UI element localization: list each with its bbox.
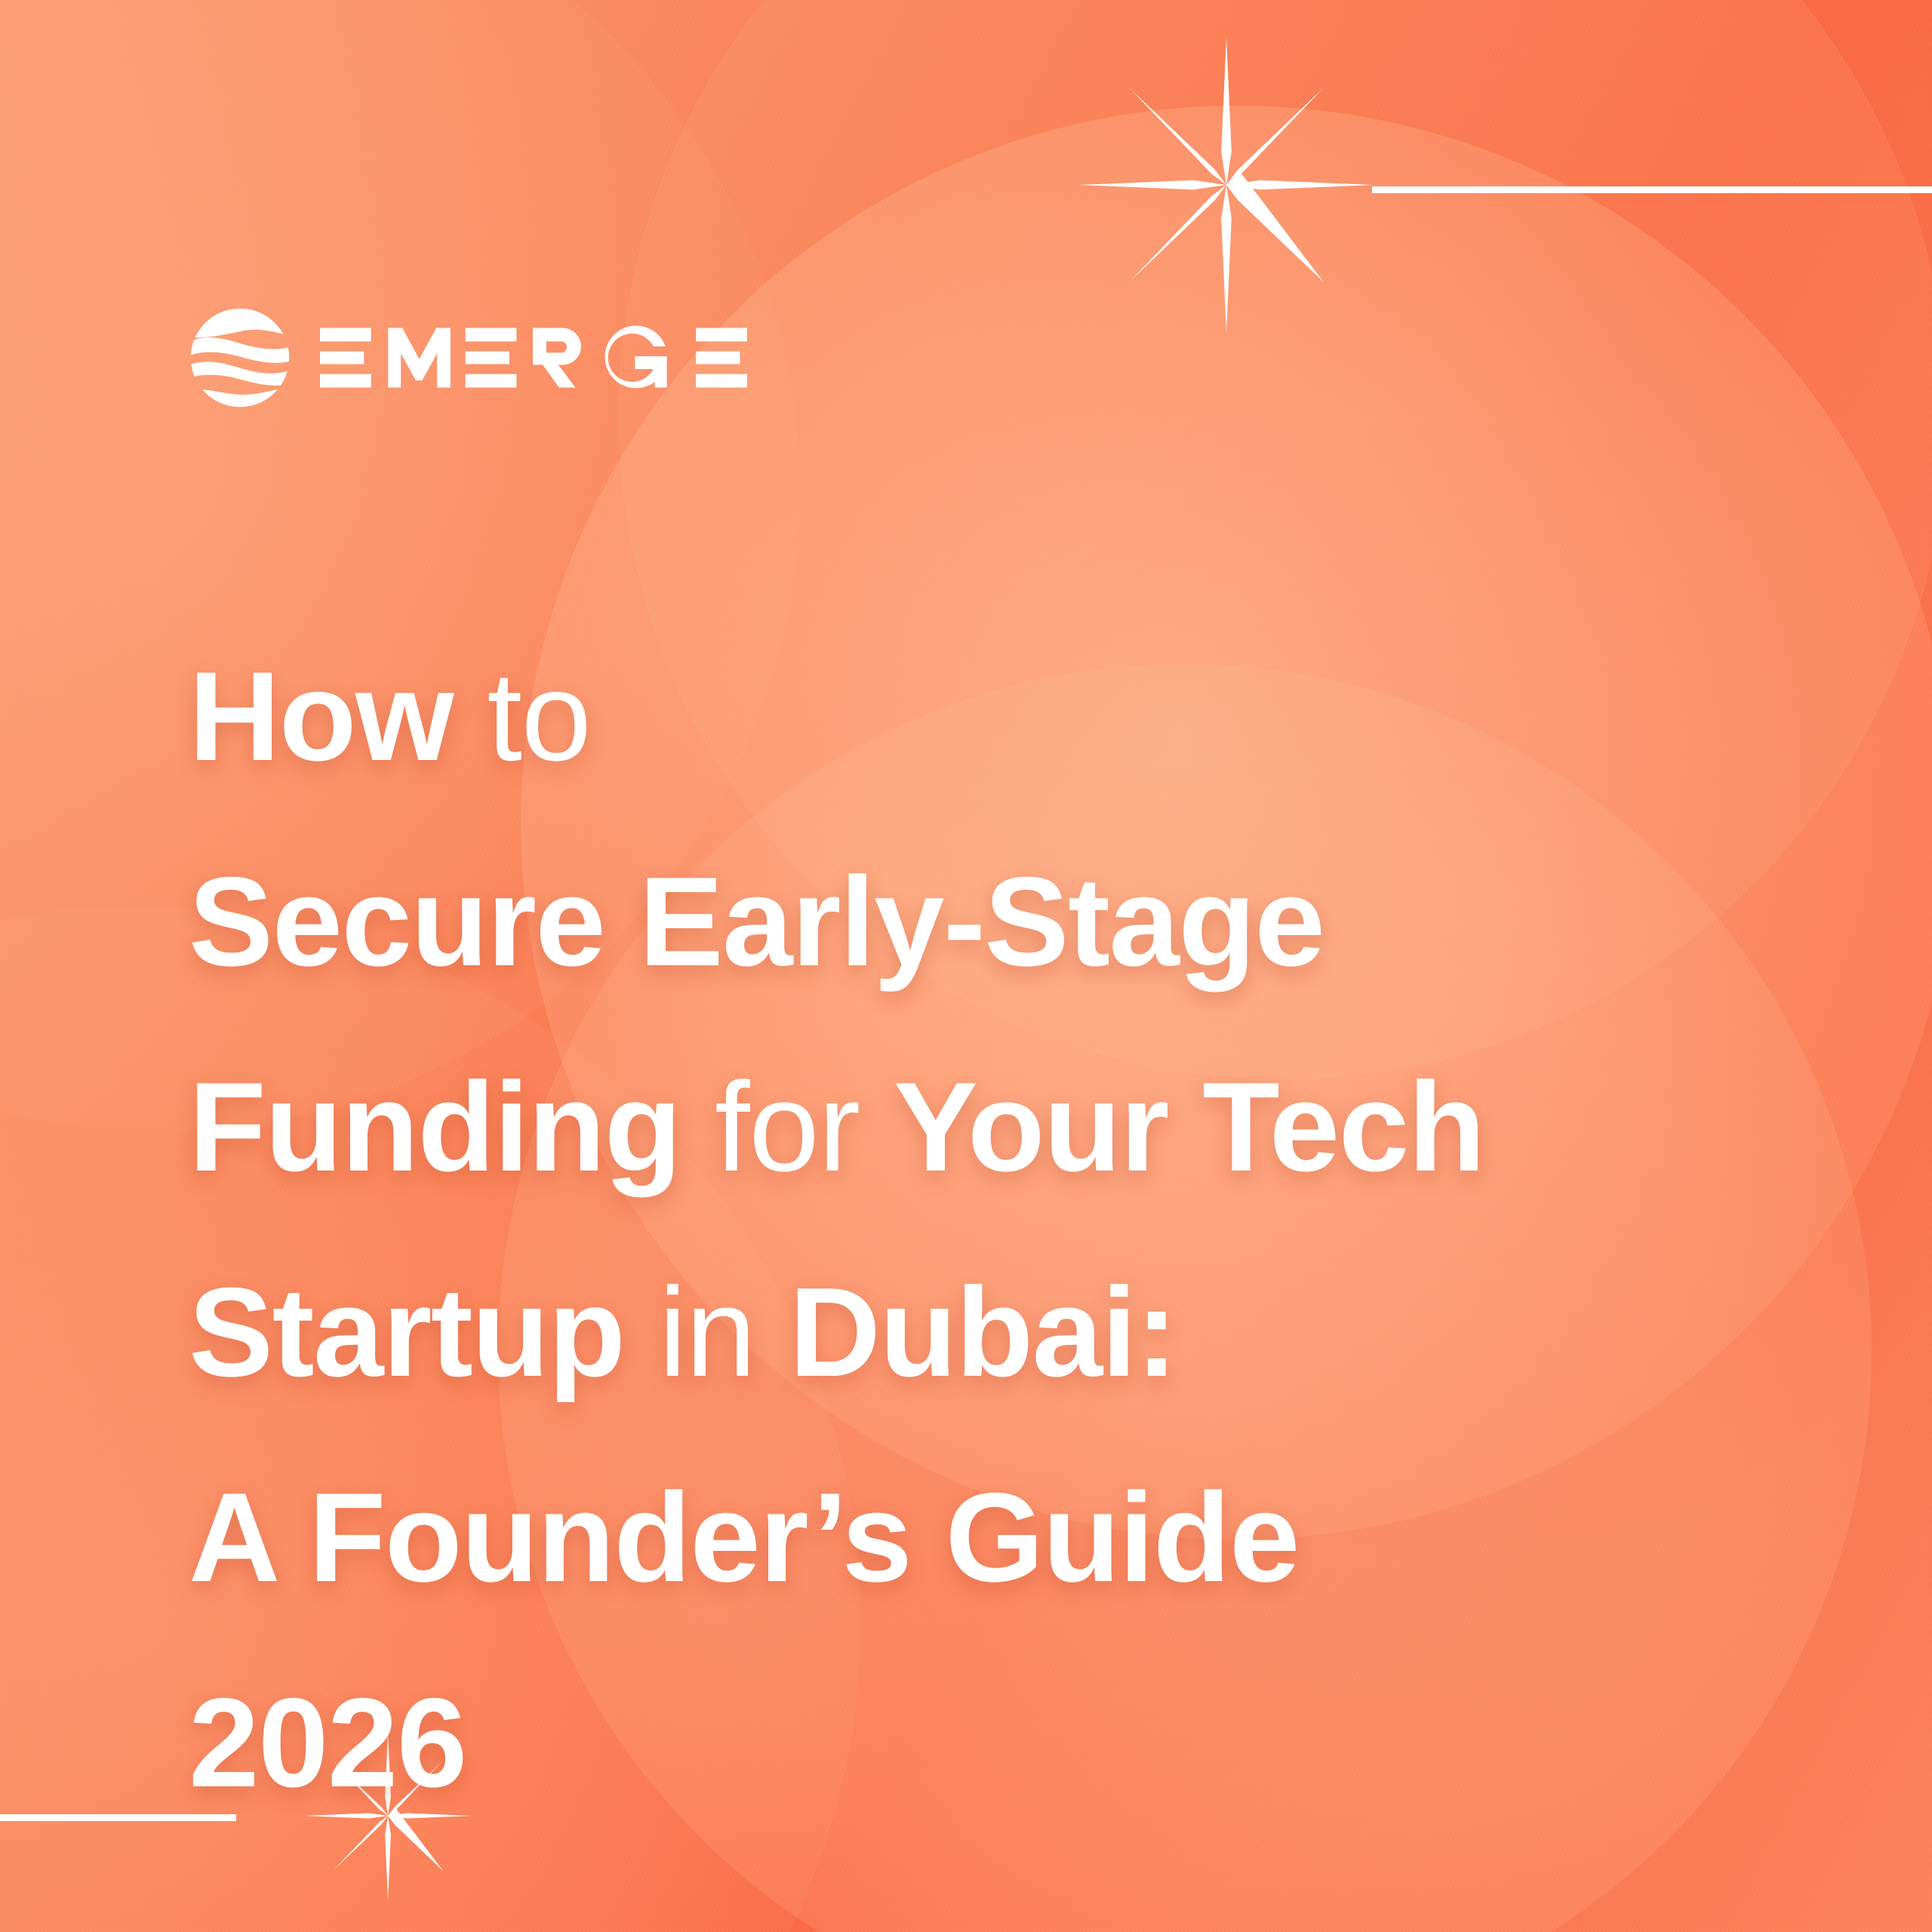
headline-run: Secure Early-Stage xyxy=(189,851,1324,992)
emerge-globe-icon xyxy=(189,306,291,409)
headline-run: Dubai: xyxy=(789,1261,1177,1403)
headline-line-6: 2026 xyxy=(189,1640,1781,1845)
headline: How toSecure Early-StageFunding for Your… xyxy=(189,614,1781,1846)
headline-run: A Founder’s Guide xyxy=(189,1466,1299,1608)
emerge-wordmark xyxy=(320,322,774,393)
headline-line-5: A Founder’s Guide xyxy=(189,1435,1781,1640)
rule-top-right xyxy=(1372,186,1932,193)
headline-line-1: How to xyxy=(189,614,1781,819)
headline-run: Your Tech xyxy=(894,1056,1484,1198)
headline-line-4: Startup in Dubai: xyxy=(189,1229,1781,1435)
sparkle-icon xyxy=(1075,34,1377,336)
headline-line-3: Funding for Your Tech xyxy=(189,1024,1781,1229)
headline-run: Funding xyxy=(189,1056,681,1198)
headline-run: Startup xyxy=(189,1261,625,1403)
headline-run: How xyxy=(189,645,453,787)
headline-run: to xyxy=(453,645,590,787)
brand-logo[interactable] xyxy=(189,306,774,409)
headline-line-2: Secure Early-Stage xyxy=(189,819,1781,1024)
headline-run: for xyxy=(681,1056,894,1198)
headline-run: 2026 xyxy=(189,1672,466,1814)
social-card: How toSecure Early-StageFunding for Your… xyxy=(0,0,1932,1932)
headline-run: in xyxy=(625,1261,789,1403)
